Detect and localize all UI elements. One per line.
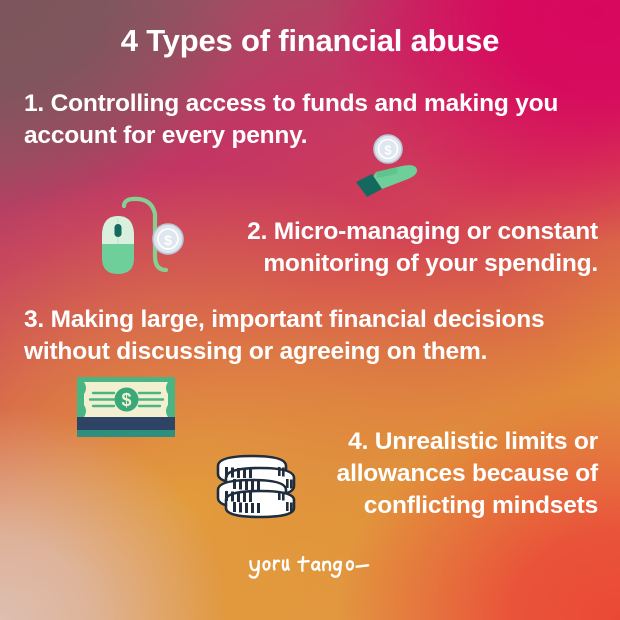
page-title: 4 Types of financial abuse (0, 22, 620, 60)
list-item-1: 1. Controlling access to funds and makin… (24, 88, 602, 152)
dollar-banknote-icon: $ (76, 376, 178, 438)
infographic-poster: 4 Types of financial abuse 1. Controllin… (0, 0, 620, 620)
list-item-2: 2. Micro-managing or constant monitoring… (180, 216, 598, 280)
svg-text:$: $ (164, 232, 172, 248)
list-item-3: 3. Making large, important financial dec… (24, 304, 604, 368)
yourtango-logo (0, 552, 620, 585)
svg-text:$: $ (384, 143, 392, 158)
svg-text:$: $ (121, 390, 131, 410)
list-item-4: 4. Unrealistic limits or allowances beca… (280, 426, 598, 522)
computer-mouse-with-coin-icon: $ (100, 194, 192, 282)
hand-holding-coin-icon: $ (346, 134, 420, 198)
